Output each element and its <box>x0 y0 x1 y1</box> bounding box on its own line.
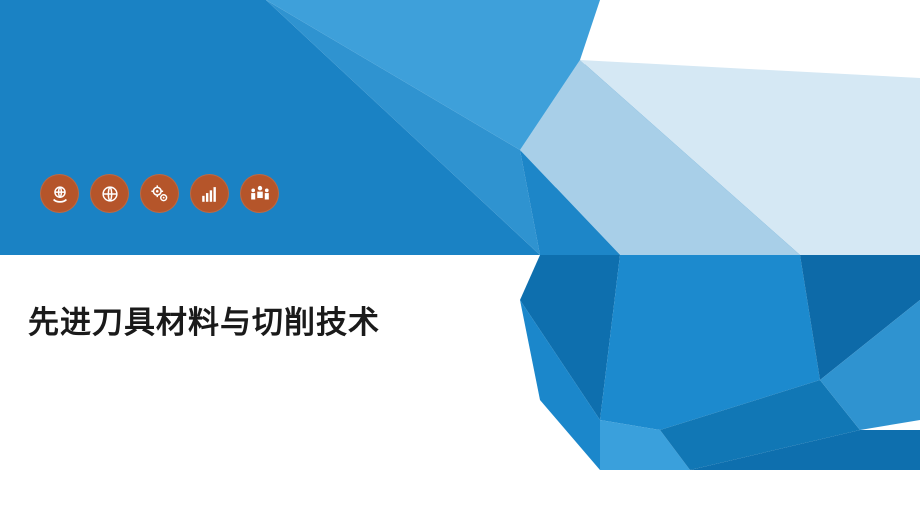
gears-icon <box>140 174 179 213</box>
bar-chart-icon <box>190 174 229 213</box>
globe-icon <box>90 174 129 213</box>
icon-badge-row <box>40 174 279 213</box>
polygon-artwork <box>0 0 920 518</box>
tagline-text: 数智创新 变革未来 <box>732 28 898 55</box>
slide-canvas: 数智创新 变革未来 <box>0 0 920 518</box>
people-group-icon <box>240 174 279 213</box>
page-title: 先进刀具材料与切削技术 <box>28 297 380 342</box>
globe-hand-icon <box>40 174 79 213</box>
